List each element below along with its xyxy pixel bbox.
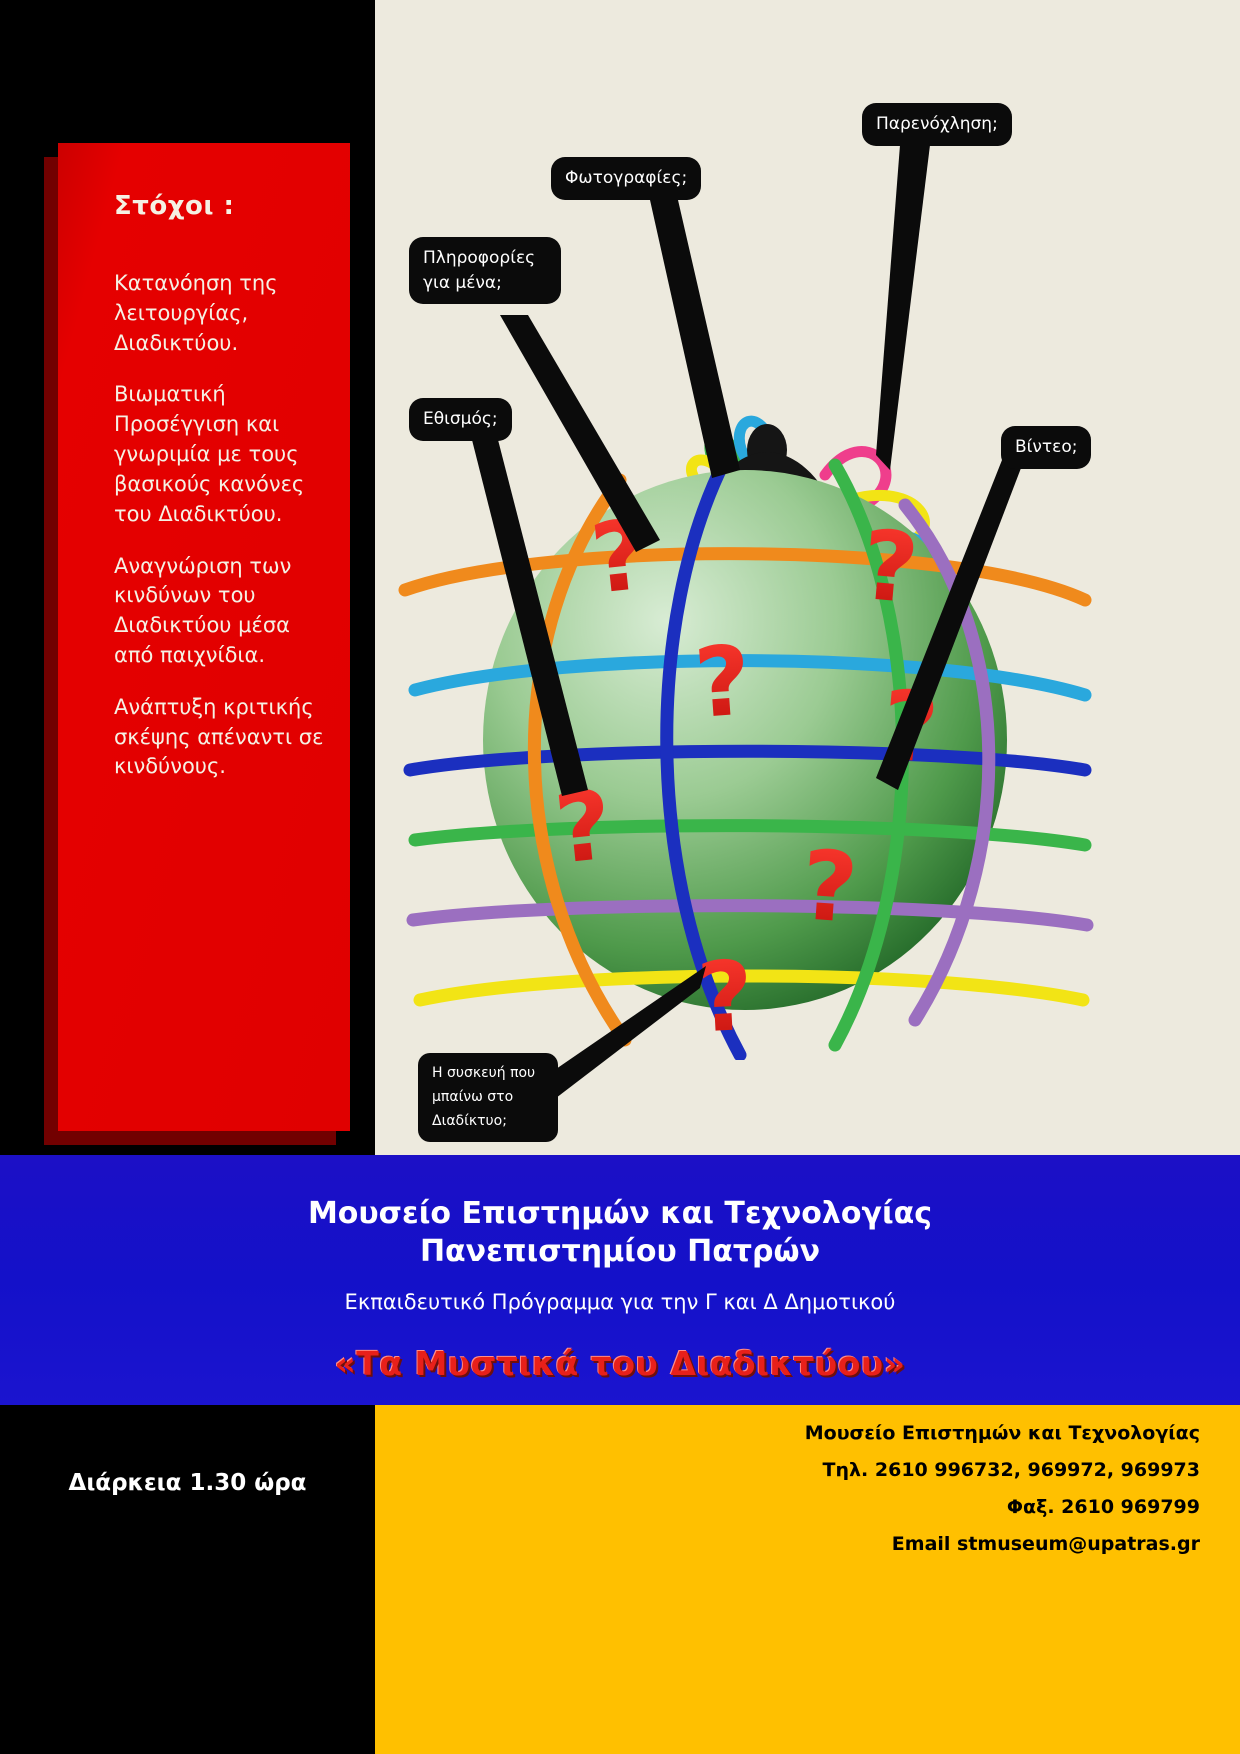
museum-title-line1: Μουσείο Επιστημών και Τεχνολογίας — [0, 1195, 1240, 1233]
bubble-fotografies[interactable]: Φωτογραφίες; — [551, 157, 701, 200]
duration-panel — [0, 1405, 375, 1754]
goal-item-3: Αναγνώριση των κινδύνων του Διαδικτύου μ… — [114, 552, 330, 671]
bubble-ethismos[interactable]: Εθισμός; — [409, 398, 512, 441]
goal-item-2: Βιωματική Προσέγγιση και γνωριμία με του… — [114, 380, 330, 529]
bubble-vinteo[interactable]: Βίντεο; — [1001, 426, 1091, 469]
question-mark-glyph: ? — [550, 769, 617, 886]
poster-root: ? ? ? ? ? ? ? Παρενόχληση; Φωτογραφίες; … — [0, 0, 1240, 1754]
program-title: «Τα Μυστικά του Διαδικτύου» — [0, 1344, 1240, 1383]
contact-line-1: Μουσείο Επιστημών και Τεχνολογίας — [500, 1415, 1200, 1452]
question-mark-glyph: ? — [586, 499, 653, 616]
bubble-parenochlisi[interactable]: Παρενόχληση; — [862, 103, 1012, 146]
bubble-syskevi[interactable]: Η συσκευή που μπαίνω στο Διαδίκτυο; — [418, 1053, 558, 1142]
museum-title-line2: Πανεπιστημίου Πατρών — [0, 1233, 1240, 1271]
question-mark-glyph: ? — [798, 829, 861, 945]
contact-line-2: Τηλ. 2610 996732, 969972, 969973 — [500, 1452, 1200, 1489]
goals-title: Στόχοι : — [114, 191, 330, 221]
contact-block: Μουσείο Επιστημών και Τεχνολογίας Τηλ. 2… — [500, 1415, 1200, 1563]
question-mark-glyph: ? — [695, 940, 756, 1055]
question-mark-glyph: ? — [857, 509, 922, 625]
goal-item-4: Ανάπτυξη κριτικής σκέψης απέναντι σε κιν… — [114, 693, 330, 782]
question-mark-glyph: ? — [691, 624, 754, 740]
museum-banner: Μουσείο Επιστημών και Τεχνολογίας Πανεπι… — [0, 1155, 1240, 1405]
contact-line-3: Φαξ. 2610 969799 — [500, 1489, 1200, 1526]
bubble-plirofories[interactable]: Πληροφορίες για μένα; — [409, 237, 561, 304]
program-subtitle: Εκπαιδευτικό Πρόγραμμα για την Γ και Δ Δ… — [0, 1290, 1240, 1314]
contact-line-4: Email stmuseum@upatras.gr — [500, 1526, 1200, 1563]
goals-panel: Στόχοι : Κατανόηση της λειτουργίας, Διαδ… — [58, 143, 350, 1131]
question-mark-glyph: ? — [877, 669, 942, 785]
museum-title: Μουσείο Επιστημών και Τεχνολογίας Πανεπι… — [0, 1155, 1240, 1272]
goal-item-1: Κατανόηση της λειτουργίας, Διαδικτύου. — [114, 269, 330, 358]
duration-text: Διάρκεια 1.30 ώρα — [0, 1470, 375, 1496]
